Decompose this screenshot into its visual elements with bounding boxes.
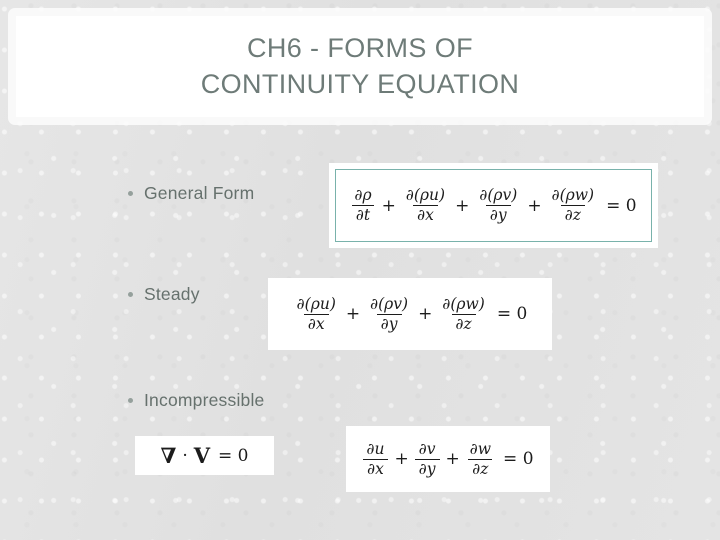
page-title: CH6 - FORMS OF CONTINUITY EQUATION: [171, 31, 550, 102]
fraction-term: ∂(ρu) ∂x: [402, 187, 449, 223]
equation-right-hand-side: = 0: [503, 449, 533, 469]
plus-operator: +: [418, 304, 432, 324]
fraction-term: ∂(ρv) ∂y: [366, 296, 412, 332]
fraction-term: ∂v ∂y: [415, 441, 440, 477]
bullet-dot-icon: [128, 398, 133, 403]
plus-operator: +: [446, 449, 460, 469]
plus-operator: +: [346, 304, 360, 324]
equation-right-hand-side: = 0: [497, 304, 527, 324]
plus-operator: +: [527, 196, 541, 216]
fraction-numerator: ∂v: [415, 441, 440, 459]
fraction-denominator: ∂x: [304, 314, 329, 333]
fraction-numerator: ∂u: [362, 441, 388, 459]
fraction-numerator: ∂(ρw): [548, 187, 599, 205]
equation-steady: ∂(ρu) ∂x + ∂(ρv) ∂y + ∂(ρw) ∂z = 0: [293, 296, 528, 332]
fraction-numerator: ∂(ρv): [366, 296, 412, 314]
bullet-label-general-form: General Form: [144, 183, 254, 204]
fraction-denominator: ∂z: [468, 459, 492, 478]
fraction-numerator: ∂(ρv): [475, 187, 521, 205]
velocity-vector-symbol: V: [194, 443, 210, 468]
equation-border-general-form: ∂ρ ∂t + ∂(ρu) ∂x + ∂(ρv) ∂y + ∂(ρw) ∂z: [335, 169, 652, 242]
fraction-denominator: ∂y: [415, 459, 440, 478]
fraction-numerator: ∂w: [466, 441, 495, 459]
title-frame: CH6 - FORMS OF CONTINUITY EQUATION: [8, 8, 712, 125]
fraction-term: ∂ρ ∂t: [350, 187, 375, 223]
equation-plate-general-form: ∂ρ ∂t + ∂(ρu) ∂x + ∂(ρv) ∂y + ∂(ρw) ∂z: [329, 163, 658, 248]
slide-canvas: CH6 - FORMS OF CONTINUITY EQUATION Gener…: [0, 0, 720, 540]
bullet-dot-icon: [128, 191, 133, 196]
fraction-term: ∂u ∂x: [362, 441, 388, 477]
fraction-denominator: ∂x: [413, 205, 438, 224]
equation-general-form: ∂ρ ∂t + ∂(ρu) ∂x + ∂(ρv) ∂y + ∂(ρw) ∂z: [350, 187, 636, 223]
fraction-term: ∂(ρw) ∂z: [438, 296, 489, 332]
bullet-item-general-form: General Form: [128, 183, 254, 204]
bullet-label-incompressible: Incompressible: [144, 390, 265, 411]
fraction-term: ∂w ∂z: [466, 441, 495, 477]
nabla-symbol: ∇: [161, 443, 177, 468]
plus-operator: +: [394, 449, 408, 469]
plus-operator: +: [455, 196, 469, 216]
bullet-dot-icon: [128, 292, 133, 297]
fraction-denominator: ∂y: [486, 205, 511, 224]
equation-divergence: ∇ · V = 0: [161, 443, 249, 468]
equation-incompressible: ∂u ∂x + ∂v ∂y + ∂w ∂z = 0: [362, 441, 533, 477]
dot-product-operator: ·: [182, 446, 187, 466]
fraction-numerator: ∂(ρu): [293, 296, 340, 314]
title-box: CH6 - FORMS OF CONTINUITY EQUATION: [16, 16, 704, 117]
equation-plate-divergence: ∇ · V = 0: [135, 436, 274, 475]
fraction-denominator: ∂z: [452, 314, 476, 333]
fraction-denominator: ∂x: [363, 459, 388, 478]
equation-plate-steady: ∂(ρu) ∂x + ∂(ρv) ∂y + ∂(ρw) ∂z = 0: [268, 278, 552, 350]
plus-operator: +: [382, 196, 396, 216]
fraction-term: ∂(ρv) ∂y: [475, 187, 521, 223]
fraction-denominator: ∂t: [352, 205, 374, 224]
fraction-numerator: ∂(ρu): [402, 187, 449, 205]
bullet-label-steady: Steady: [144, 284, 200, 305]
equation-plate-incompressible: ∂u ∂x + ∂v ∂y + ∂w ∂z = 0: [346, 426, 550, 492]
equation-right-hand-side: = 0: [218, 446, 248, 466]
fraction-numerator: ∂ρ: [350, 187, 375, 205]
fraction-term: ∂(ρw) ∂z: [548, 187, 599, 223]
fraction-numerator: ∂(ρw): [438, 296, 489, 314]
bullet-item-steady: Steady: [128, 284, 200, 305]
equation-right-hand-side: = 0: [606, 196, 636, 216]
fraction-denominator: ∂z: [561, 205, 585, 224]
fraction-denominator: ∂y: [377, 314, 402, 333]
bullet-item-incompressible: Incompressible: [128, 390, 265, 411]
fraction-term: ∂(ρu) ∂x: [293, 296, 340, 332]
